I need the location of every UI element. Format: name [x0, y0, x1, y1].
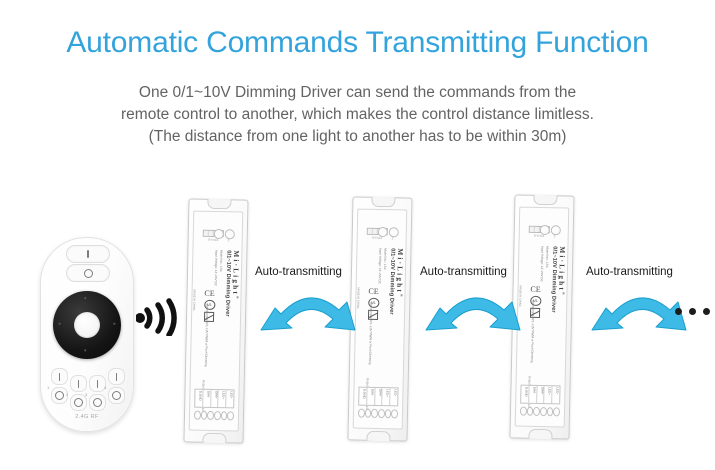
remote-logo-label: 2.4G RF [41, 414, 133, 420]
driver-terminal-block: D.GND DIM- DIM+ LED+ LED- [520, 385, 560, 405]
remote-zone-2[interactable]: 2 [70, 375, 85, 411]
subtitle-line-2: remote control to another, which makes t… [0, 104, 715, 126]
driver-bottom-tab [366, 431, 390, 442]
driver-top-tab [371, 197, 395, 208]
led-1-number: 1 [543, 234, 545, 238]
zone-3-number: 3 [85, 392, 87, 397]
led-2-number: 2 [554, 234, 556, 238]
wheel-tick-right-icon: ▸ [113, 322, 116, 327]
ellipsis-dot [703, 308, 710, 315]
slide-canvas: Automatic Commands Transmitting Function… [0, 0, 715, 470]
wheel-tick-up-icon: ▴ [84, 296, 87, 301]
subtitle-line-3: (The distance from one light to another … [0, 126, 715, 148]
led-1-number: 1 [217, 238, 219, 242]
zone-1-on-button[interactable] [51, 368, 68, 385]
auto-transmitting-label: Auto-transmitting [586, 266, 706, 278]
terminal-cell: LED- [552, 386, 559, 403]
driver-spec-1: Model No.: LS4 [383, 248, 387, 269]
driver-label-area: SYNC 1 2 Mi·Light® 0/1~10V Dimming Drive… [189, 211, 244, 432]
driver-top-tab [533, 195, 557, 206]
driver-status-leds: 1 2 [378, 227, 399, 241]
auto-transmitting-label: Auto-transmitting [420, 266, 540, 278]
driver-origin-text: MADE IN CHINA [192, 290, 196, 311]
driver-spec-2: Input Voltage: 12~24V DC [539, 246, 543, 282]
terminal-cell: LED- [226, 390, 233, 407]
driver-bottom-tab [528, 429, 552, 440]
driver-spec-1: Model No.: LS4 [545, 246, 549, 267]
driver-wire-ports [194, 410, 234, 421]
led-1-icon [378, 227, 388, 237]
driver-printed-face: Mi·Light® 0/1~10V Dimming Driver Model N… [193, 246, 239, 355]
led-2-icon [551, 225, 561, 235]
driver-status-leds: 1 2 [214, 229, 235, 243]
zone-2-number: 2 [66, 392, 68, 397]
driver-model-name: 0/1~10V Dimming Driver [387, 248, 394, 315]
led-1-icon [214, 229, 224, 239]
terminal-cell: LED- [390, 388, 397, 405]
auto-transmitting-arrow-icon [420, 286, 534, 334]
remote-on-button[interactable] [66, 245, 110, 263]
remote-zone-4[interactable]: 4 [108, 368, 123, 404]
driver-terminal-block: D.GND DIM- DIM+ LED+ LED- [194, 389, 234, 409]
driver-brand: Mi·Light® [395, 248, 404, 296]
led-2-icon [225, 229, 235, 239]
led-2-number: 2 [228, 238, 230, 242]
ellipsis-dot [689, 308, 696, 315]
auto-transmitting-group-3: Auto-transmitting [586, 266, 706, 336]
driver-terminal-block: D.GND DIM- DIM+ LED+ LED- [358, 387, 398, 407]
driver-wire-ports [520, 406, 560, 417]
led-2-number: 2 [392, 236, 394, 240]
driver-model-name: 0/1~10V Dimming Driver [549, 246, 556, 313]
rf-remote-control[interactable]: ▴ ▾ ◂ ▸ 1 2 3 4 2.4G RF [40, 237, 134, 432]
subtitle-line-1: One 0/1~10V Dimming Driver can send the … [0, 82, 715, 104]
zone-1-number: 1 [47, 385, 49, 390]
remote-touch-wheel[interactable]: ▴ ▾ ◂ ▸ [53, 291, 121, 359]
on-bar-icon [67, 246, 109, 262]
zone-4-off-button[interactable] [108, 387, 125, 404]
ul-mark-icon: UL [204, 300, 215, 310]
led-1-icon [540, 225, 550, 235]
auto-transmitting-label: Auto-transmitting [255, 266, 375, 278]
remote-zone-1[interactable]: 1 [51, 368, 66, 404]
led-2-icon [389, 227, 399, 237]
wheel-tick-left-icon: ◂ [58, 322, 61, 327]
driver-model-name: 0/1~10V Dimming Driver [223, 250, 230, 317]
ellipsis-dot [675, 308, 682, 315]
zone-4-number: 4 [104, 385, 106, 390]
driver-spec-2: Input Voltage: 12~24V DC [213, 250, 217, 286]
wifi-waves-icon [136, 288, 188, 336]
zone-3-off-button[interactable] [89, 394, 106, 411]
wheel-tick-down-icon: ▾ [84, 349, 87, 354]
driver-brand: Mi·Light® [557, 246, 566, 294]
off-circle-icon [67, 265, 109, 281]
driver-shell: SYNC 1 2 Mi·Light® 0/1~10V Dimming Drive… [183, 198, 248, 443]
driver-certification-marks: CE UL [199, 290, 220, 322]
auto-transmitting-group-1: Auto-transmitting [255, 266, 375, 336]
driver-brand: Mi·Light® [231, 250, 240, 298]
driver-spec-2: Input Voltage: 12~24V DC [377, 248, 381, 284]
led-1-number: 1 [381, 236, 383, 240]
driver-spec-1: Model No.: LS4 [219, 250, 223, 271]
remote-zone-3[interactable]: 3 [89, 375, 104, 411]
auto-transmitting-arrow-icon [255, 286, 369, 334]
driver-bottom-tab [202, 433, 226, 444]
auto-transmitting-group-2: Auto-transmitting [420, 266, 540, 336]
remote-off-button[interactable] [66, 264, 110, 282]
remote-wheel-center-button[interactable] [74, 312, 100, 338]
driver-wire-ports [358, 408, 398, 419]
zone-4-on-button[interactable] [108, 368, 125, 385]
driver-status-leds: 1 2 [540, 225, 561, 239]
dimming-driver-1[interactable]: SYNC 1 2 Mi·Light® 0/1~10V Dimming Drive… [183, 198, 246, 441]
ce-mark-icon: CE [204, 290, 214, 298]
driver-top-tab [207, 199, 231, 210]
continuation-ellipsis [675, 308, 710, 315]
zone-2-on-button[interactable] [70, 375, 87, 392]
weee-mark-icon [204, 311, 214, 322]
page-title: Automatic Commands Transmitting Function [0, 26, 715, 60]
page-subtitle: One 0/1~10V Dimming Driver can send the … [0, 82, 715, 148]
